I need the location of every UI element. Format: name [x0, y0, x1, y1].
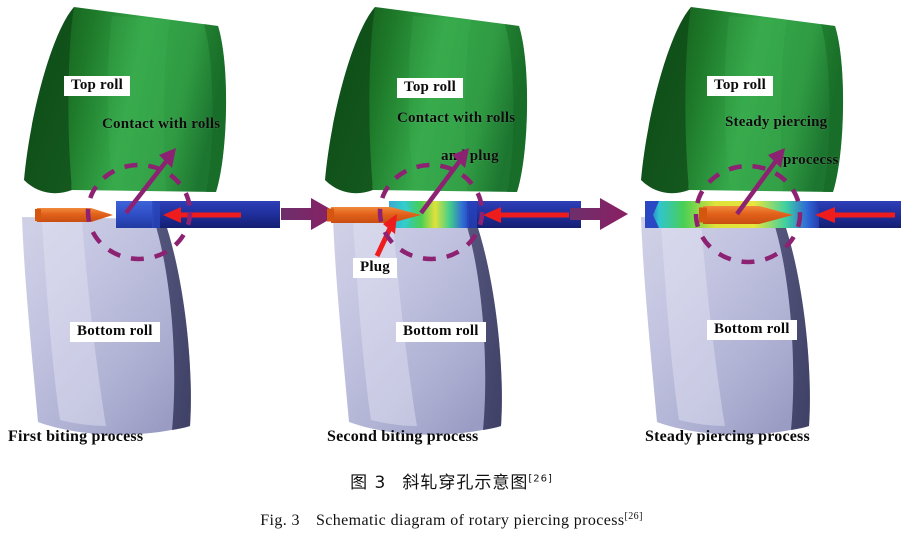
process-name-steady-piercing: Steady piercing process [645, 428, 810, 446]
billet-assembly [35, 198, 280, 232]
bottom-roll-label: Bottom roll [70, 322, 160, 342]
caption-chinese-prefix: 图 3 [350, 468, 386, 493]
figure-caption-block: 图 3斜轧穿孔示意图[26] Fig. 3Schematic diagram o… [0, 462, 903, 545]
top-roll-shape [317, 4, 567, 204]
top-roll-shape [633, 4, 883, 204]
top-roll-shape [16, 4, 266, 204]
caption-english-text: Schematic diagram of rotary piercing pro… [316, 512, 625, 530]
steady-annotation-line-2: procecss [783, 152, 838, 169]
plug-label: Plug [353, 258, 397, 278]
top-roll-label: Top roll [64, 76, 130, 96]
contact-annotation-line-2: and plug [441, 148, 499, 165]
caption-english: Fig. 3Schematic diagram of rotary pierci… [0, 511, 903, 530]
process-name-first-biting: First biting process [8, 428, 143, 446]
bottom-roll-label: Bottom roll [396, 322, 486, 342]
panel-steady-piercing: Top roll Steady piercing procecss [603, 0, 903, 460]
caption-chinese-reference: [26] [528, 473, 553, 484]
contact-annotation-line-1: Contact with rolls [397, 110, 515, 127]
top-roll-label: Top roll [397, 78, 463, 98]
panel-first-biting: Top roll Contact with rolls [0, 0, 300, 460]
billet-assembly [317, 198, 581, 232]
panel-second-biting: Top roll Contact with rolls and plug [301, 0, 601, 460]
billet-assembly [643, 198, 901, 232]
caption-english-reference: [26] [625, 511, 643, 522]
contact-annotation-line-1: Contact with rolls [102, 116, 220, 133]
figure-image-area: Top roll Contact with rolls [0, 0, 903, 460]
bottom-roll-label: Bottom roll [707, 320, 797, 340]
steady-annotation-line-1: Steady piercing [725, 114, 827, 131]
top-roll-label: Top roll [707, 76, 773, 96]
caption-chinese-text: 斜轧穿孔示意图 [402, 468, 528, 493]
process-name-second-biting: Second biting process [327, 428, 478, 446]
caption-english-prefix: Fig. 3 [260, 512, 300, 530]
caption-chinese: 图 3斜轧穿孔示意图[26] [0, 468, 903, 493]
